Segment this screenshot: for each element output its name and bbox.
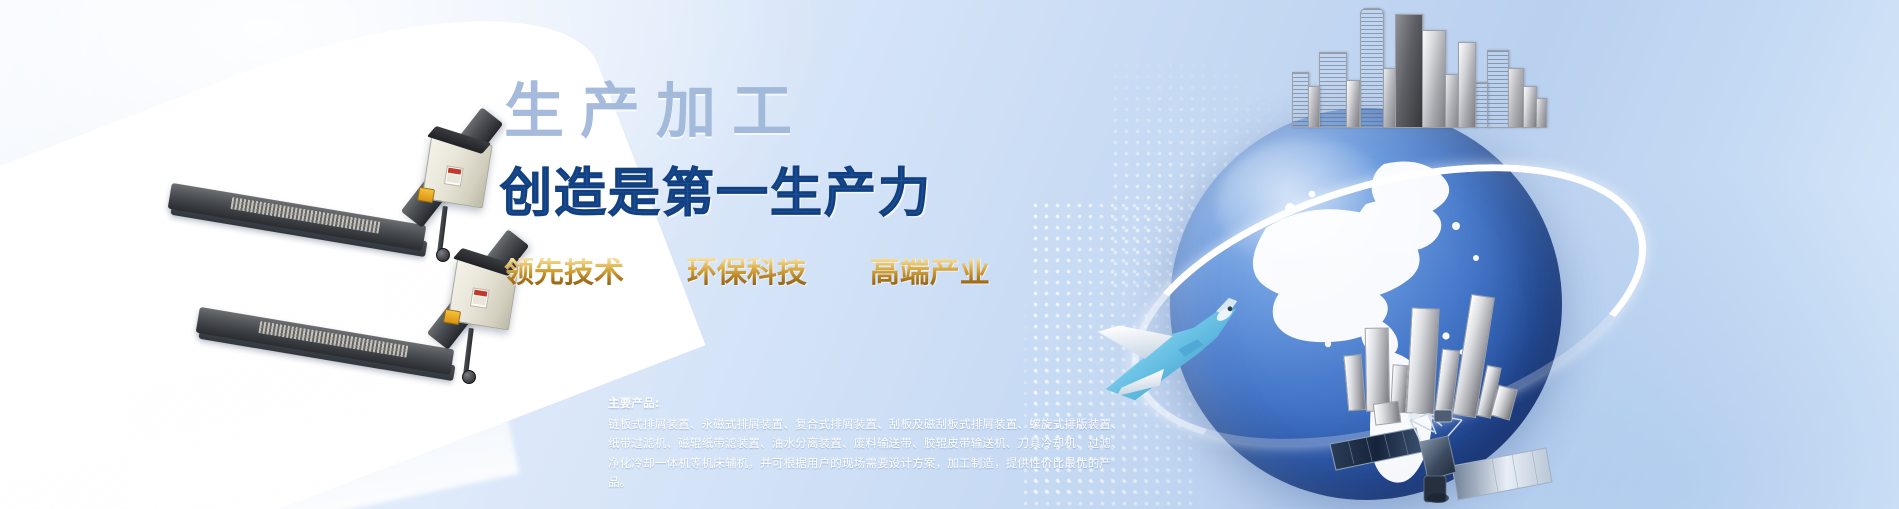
fine-print-body: 链板式排屑装置、永磁式排屑装置、复合式排屑装置、刮板及磁刮板式排屑装置、螺旋式排…: [608, 415, 1128, 493]
chip-conveyor-machine-lower: [196, 196, 526, 386]
fine-print-title: 主要产品:: [608, 394, 1128, 414]
satellite: [1324, 390, 1554, 509]
headline-secondary: 创造是第一生产力: [500, 168, 932, 220]
headline-primary: 生产加工: [504, 82, 808, 142]
globe-scene: [1110, 0, 1650, 509]
tagline-row: 领先技术 环保科技 高端产业: [504, 258, 990, 288]
tagline-item-3: 高端产业: [870, 258, 990, 288]
tagline-item-1: 领先技术: [504, 258, 624, 288]
promo-banner: 生产加工 创造是第一生产力 领先技术 环保科技 高端产业 主要产品: 链板式排屑…: [0, 0, 1899, 509]
tagline-item-2: 环保科技: [687, 258, 807, 288]
fine-print-block: 主要产品: 链板式排屑装置、永磁式排屑装置、复合式排屑装置、刮板及磁刮板式排屑装…: [608, 394, 1128, 493]
city-skyline-top: [1288, 0, 1548, 128]
